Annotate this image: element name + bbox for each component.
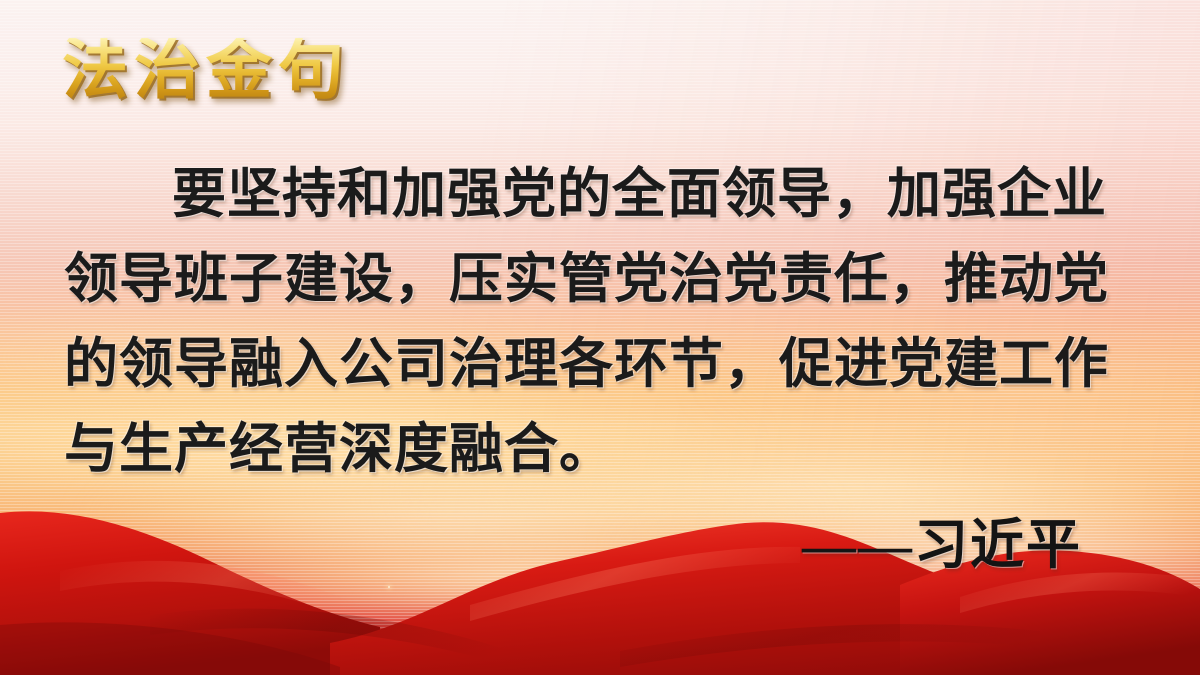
quote-line: 与生产经营深度融合。 [64, 407, 1142, 492]
quote-line: 的领导融入公司治理各环节，促进党建工作 [64, 322, 1142, 407]
quote-line: 要坚持和加强党的全面领导，加强企业 [64, 152, 1142, 237]
page-title: 法治金句 [62, 38, 350, 104]
slide-canvas: 法治金句 要坚持和加强党的全面领导，加强企业 领导班子建设，压实管党治党责任，推… [0, 0, 1200, 675]
quote-attribution: ——习近平 [802, 500, 1082, 579]
quote-text-block: 要坚持和加强党的全面领导，加强企业 领导班子建设，压实管党治党责任，推动党 的领… [64, 152, 1142, 492]
quote-line: 领导班子建设，压实管党治党责任，推动党 [64, 237, 1142, 322]
